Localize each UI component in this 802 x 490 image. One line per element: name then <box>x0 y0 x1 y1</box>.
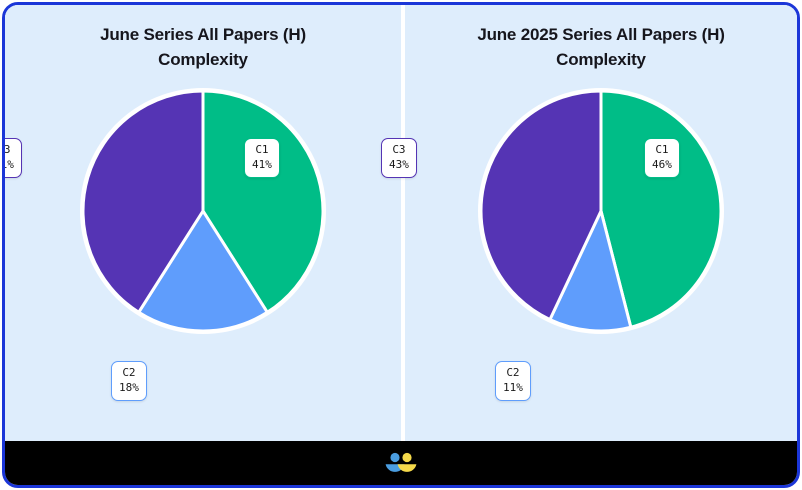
screenshot-root: June Series All Papers (H) Complexity C1… <box>0 0 802 490</box>
pie-label-right-c1-category: C1 <box>652 143 672 158</box>
chart-title-left-line2: Complexity <box>158 50 248 69</box>
pie-label-right-c2: C2 11% <box>495 361 531 401</box>
logo-head-right <box>402 453 411 462</box>
pie-label-left-c2: C2 18% <box>111 361 147 401</box>
chart-title-left: June Series All Papers (H) Complexity <box>38 23 368 72</box>
pie-label-right-c1: C1 46% <box>644 138 680 178</box>
pie-label-left-c2-category: C2 <box>119 366 139 381</box>
chart-title-left-line1: June Series All Papers (H) <box>100 25 306 44</box>
pie-label-left-c3-category: C3 <box>2 143 14 158</box>
logo-head-left <box>390 453 399 462</box>
chart-panel-right: June 2025 Series All Papers (H) Complexi… <box>401 5 797 441</box>
charts-area: June Series All Papers (H) Complexity C1… <box>5 5 797 441</box>
pie-label-left-c1-category: C1 <box>252 143 272 158</box>
chart-title-right: June 2025 Series All Papers (H) Complexi… <box>436 23 766 72</box>
chart-title-right-line1: June 2025 Series All Papers (H) <box>477 25 724 44</box>
slide-board: June Series All Papers (H) Complexity C1… <box>2 2 800 488</box>
footer-bar <box>5 441 797 485</box>
people-logo-icon <box>383 450 419 476</box>
pie-chart-left: C1 41% C2 18% C3 41% <box>78 86 328 336</box>
pie-svg-right <box>476 86 726 336</box>
pie-label-right-c2-value: 11% <box>503 381 523 396</box>
pie-svg-left <box>78 86 328 336</box>
pie-slices-right <box>481 91 721 331</box>
pie-label-right-c2-category: C2 <box>503 366 523 381</box>
pie-slices-left <box>83 91 323 331</box>
pie-label-right-c1-value: 46% <box>652 158 672 173</box>
pie-label-right-c3: C3 43% <box>381 138 417 178</box>
pie-label-left-c1: C1 41% <box>244 138 280 178</box>
logo-body-right <box>398 464 417 472</box>
pie-label-right-c3-value: 43% <box>389 158 409 173</box>
pie-label-left-c3: C3 41% <box>2 138 22 178</box>
pie-label-left-c3-value: 41% <box>2 158 14 173</box>
chart-panel-left: June Series All Papers (H) Complexity C1… <box>5 5 401 441</box>
chart-title-right-line2: Complexity <box>556 50 646 69</box>
pie-label-right-c3-category: C3 <box>389 143 409 158</box>
pie-chart-right: C1 46% C2 11% C3 43% <box>476 86 726 336</box>
pie-label-left-c1-value: 41% <box>252 158 272 173</box>
pie-label-left-c2-value: 18% <box>119 381 139 396</box>
